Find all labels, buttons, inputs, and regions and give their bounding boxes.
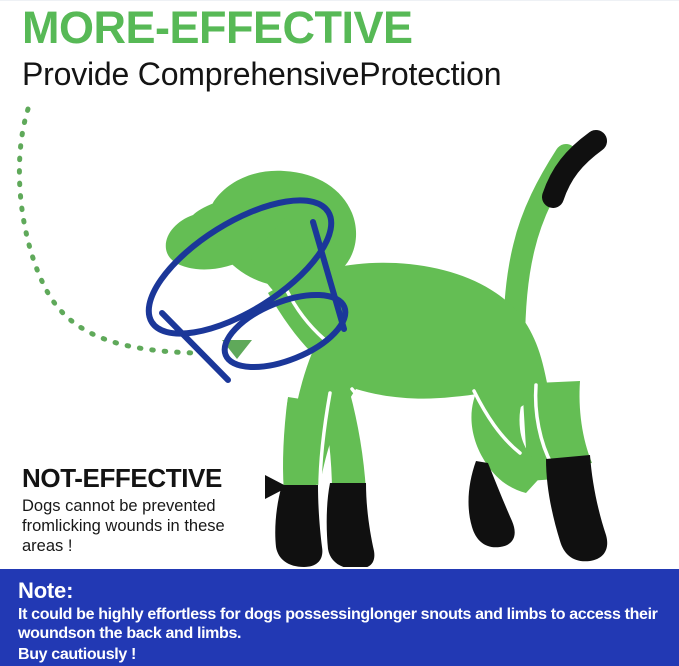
not-effective-callout: NOT-EFFECTIVE Dogs cannot be prevented f…	[22, 463, 254, 556]
page-title: MORE-EFFECTIVE	[22, 3, 662, 53]
not-effective-title: NOT-EFFECTIVE	[22, 463, 254, 493]
header: MORE-EFFECTIVE Provide ComprehensiveProt…	[22, 3, 662, 93]
note-label: Note:	[18, 579, 663, 603]
note-banner: Note: It could be highly effortless for …	[0, 569, 679, 666]
note-body: It could be highly effortless for dogs p…	[18, 605, 663, 643]
page-subtitle: Provide ComprehensiveProtection	[22, 55, 662, 93]
not-effective-description: Dogs cannot be prevented fromlicking wou…	[22, 496, 254, 556]
infographic-page: MORE-EFFECTIVE Provide ComprehensiveProt…	[0, 0, 679, 666]
note-cta: Buy cautiously !	[18, 645, 663, 664]
